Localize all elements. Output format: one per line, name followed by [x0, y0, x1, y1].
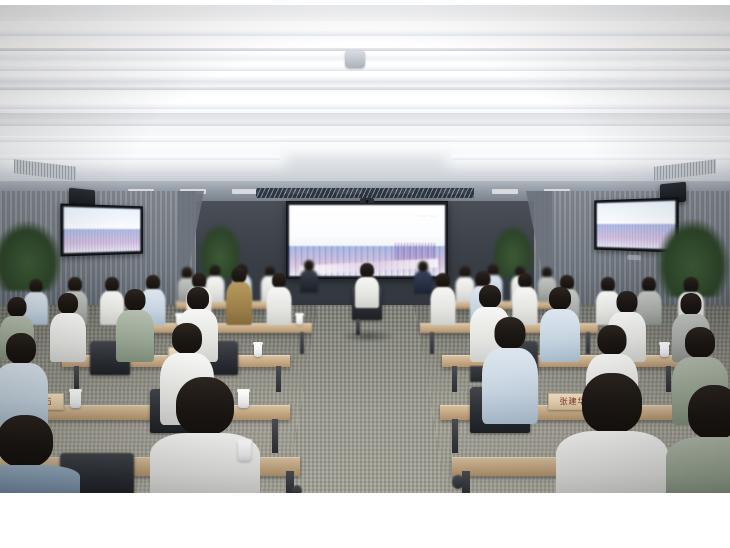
cup — [238, 441, 251, 461]
ceiling-light-strip-5 — [0, 155, 280, 160]
ceiling-vent-left — [14, 159, 76, 181]
ceiling-light-strip-3 — [0, 103, 730, 109]
screenshot-canvas: —— —— — [0, 0, 730, 548]
attendee — [540, 287, 580, 361]
ceiling-rail-3 — [0, 123, 730, 126]
downlight-slot — [492, 189, 518, 194]
ceiling-rail-2 — [0, 87, 730, 90]
cup — [70, 391, 81, 408]
attendee — [482, 317, 538, 423]
ceiling-beam-shadow — [0, 113, 730, 123]
desk-leg — [430, 332, 434, 354]
chair-caster — [452, 475, 464, 489]
ceiling-light-strip-1 — [0, 29, 730, 36]
lighting-truss — [256, 188, 474, 198]
ceiling-rail-1 — [0, 48, 730, 51]
attendee-foreground — [556, 373, 668, 493]
ceiling-light-strip-2 — [0, 65, 730, 71]
ceiling — [0, 5, 730, 191]
camera-lens-icon — [366, 200, 369, 203]
attendee-foreground — [150, 377, 260, 493]
cup — [296, 315, 303, 325]
attendee — [226, 267, 252, 325]
attendee — [50, 293, 86, 361]
attendee — [0, 333, 48, 425]
screen-watermark-text: —— —— — [418, 213, 438, 218]
desk-leg — [300, 332, 304, 354]
ceiling-vent-right — [654, 159, 716, 181]
conference-room-photo: —— —— — [0, 5, 730, 493]
chair-shadow — [340, 329, 396, 343]
attendee-foreground — [666, 385, 730, 493]
chair-caster — [292, 485, 302, 493]
attendee — [266, 273, 291, 325]
ceiling-light-strip-4 — [0, 136, 730, 142]
cup — [254, 344, 262, 357]
desk-leg — [452, 366, 457, 392]
attendee — [116, 289, 154, 361]
left-side-monitor — [60, 203, 143, 256]
front-row-presenter — [355, 263, 379, 307]
attendee — [300, 260, 318, 292]
attendee-foreground — [0, 415, 80, 493]
desk-leg — [272, 419, 278, 453]
ceiling-upper-shade — [0, 5, 730, 21]
right-monitor-logo — [627, 255, 640, 261]
desk-leg — [452, 419, 458, 453]
left-monitor-content — [64, 207, 141, 253]
cup — [660, 344, 669, 357]
ceiling-projector-mount — [345, 51, 365, 68]
downlight-slot — [232, 189, 258, 194]
ceiling-light-strip-6 — [452, 155, 730, 160]
desk-leg — [276, 366, 281, 392]
attendee — [430, 273, 455, 325]
